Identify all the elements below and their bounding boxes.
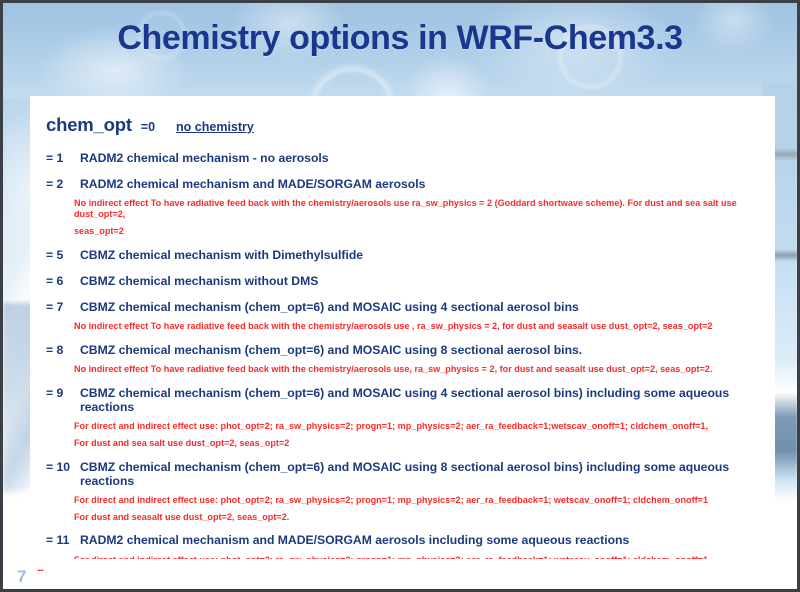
option-key: = 6 xyxy=(46,274,80,288)
option-label: CBMZ chemical mechanism (chem_opt=6) and… xyxy=(80,343,765,357)
option-label: CBMZ chemical mechanism (chem_opt=6) and… xyxy=(80,386,765,414)
option-main: = 7CBMZ chemical mechanism (chem_opt=6) … xyxy=(44,296,765,318)
option-row: = 6CBMZ chemical mechanism without DMS xyxy=(44,270,765,292)
page-title: Chemistry options in WRF-Chem3.3 xyxy=(3,19,797,58)
option-main: = 2RADM2 chemical mechanism and MADE/SOR… xyxy=(44,173,765,195)
option-label: RADM2 chemical mechanism and MADE/SORGAM… xyxy=(80,177,765,191)
option-note: No indirect effect To have radiative fee… xyxy=(44,318,765,335)
chem-opt-value: =0 xyxy=(141,120,155,134)
option-label: CBMZ chemical mechanism with Dimethylsul… xyxy=(80,248,765,262)
chem-opt-header: chem_opt =0 no chemistry xyxy=(46,114,765,136)
option-row: = 2RADM2 chemical mechanism and MADE/SOR… xyxy=(44,173,765,240)
option-main: = 9CBMZ chemical mechanism (chem_opt=6) … xyxy=(44,382,765,418)
option-note: For direct and indirect effect use: phot… xyxy=(44,492,765,509)
option-key: = 1 xyxy=(46,151,80,165)
option-key: = 5 xyxy=(46,248,80,262)
option-main: = 11RADM2 chemical mechanism and MADE/SO… xyxy=(44,529,765,551)
no-chemistry-link[interactable]: no chemistry xyxy=(176,120,254,134)
option-row: = 9CBMZ chemical mechanism (chem_opt=6) … xyxy=(44,382,765,452)
content-card: chem_opt =0 no chemistry = 1RADM2 chemic… xyxy=(30,96,775,562)
option-key: = 8 xyxy=(46,343,80,357)
option-row: = 1RADM2 chemical mechanism - no aerosol… xyxy=(44,147,765,169)
slide: Chemistry options in WRF-Chem3.3 chem_op… xyxy=(0,0,800,592)
option-main: = 6CBMZ chemical mechanism without DMS xyxy=(44,270,765,292)
option-note: For dust and sea salt use dust_opt=2, se… xyxy=(44,435,765,452)
option-label: CBMZ chemical mechanism (chem_opt=6) and… xyxy=(80,300,765,314)
option-label: CBMZ chemical mechanism (chem_opt=6) and… xyxy=(80,460,765,488)
option-key: = 2 xyxy=(46,177,80,191)
option-row: = 10CBMZ chemical mechanism (chem_opt=6)… xyxy=(44,456,765,526)
option-label: CBMZ chemical mechanism without DMS xyxy=(80,274,765,288)
option-label: RADM2 chemical mechanism - no aerosols xyxy=(80,151,765,165)
option-note: No indirect effect To have radiative fee… xyxy=(44,361,765,378)
page-number: 7 xyxy=(17,567,26,587)
option-main: = 1RADM2 chemical mechanism - no aerosol… xyxy=(44,147,765,169)
option-main: = 10CBMZ chemical mechanism (chem_opt=6)… xyxy=(44,456,765,492)
option-note: seas_opt=2 xyxy=(44,223,765,240)
option-note: For dust and seasalt use dust_opt=2, sea… xyxy=(44,509,765,526)
slide-footer: 7 .... xyxy=(3,559,797,589)
option-key: = 9 xyxy=(46,386,80,400)
chem-opt-label: chem_opt xyxy=(46,114,132,136)
option-main: = 5CBMZ chemical mechanism with Dimethyl… xyxy=(44,244,765,266)
option-row: = 5CBMZ chemical mechanism with Dimethyl… xyxy=(44,244,765,266)
option-note: For direct and indirect effect use: phot… xyxy=(44,418,765,435)
option-label: RADM2 chemical mechanism and MADE/SORGAM… xyxy=(80,533,765,547)
option-key: = 7 xyxy=(46,300,80,314)
option-note: No indirect effect To have radiative fee… xyxy=(44,195,765,223)
option-row: = 7CBMZ chemical mechanism (chem_opt=6) … xyxy=(44,296,765,335)
option-row: = 8CBMZ chemical mechanism (chem_opt=6) … xyxy=(44,339,765,378)
options-list: = 1RADM2 chemical mechanism - no aerosol… xyxy=(44,147,765,562)
option-key: = 10 xyxy=(46,460,80,474)
option-main: = 8CBMZ chemical mechanism (chem_opt=6) … xyxy=(44,339,765,361)
option-row: = 11RADM2 chemical mechanism and MADE/SO… xyxy=(44,529,765,562)
footer-mark: .... xyxy=(37,563,43,573)
option-key: = 11 xyxy=(46,533,80,547)
